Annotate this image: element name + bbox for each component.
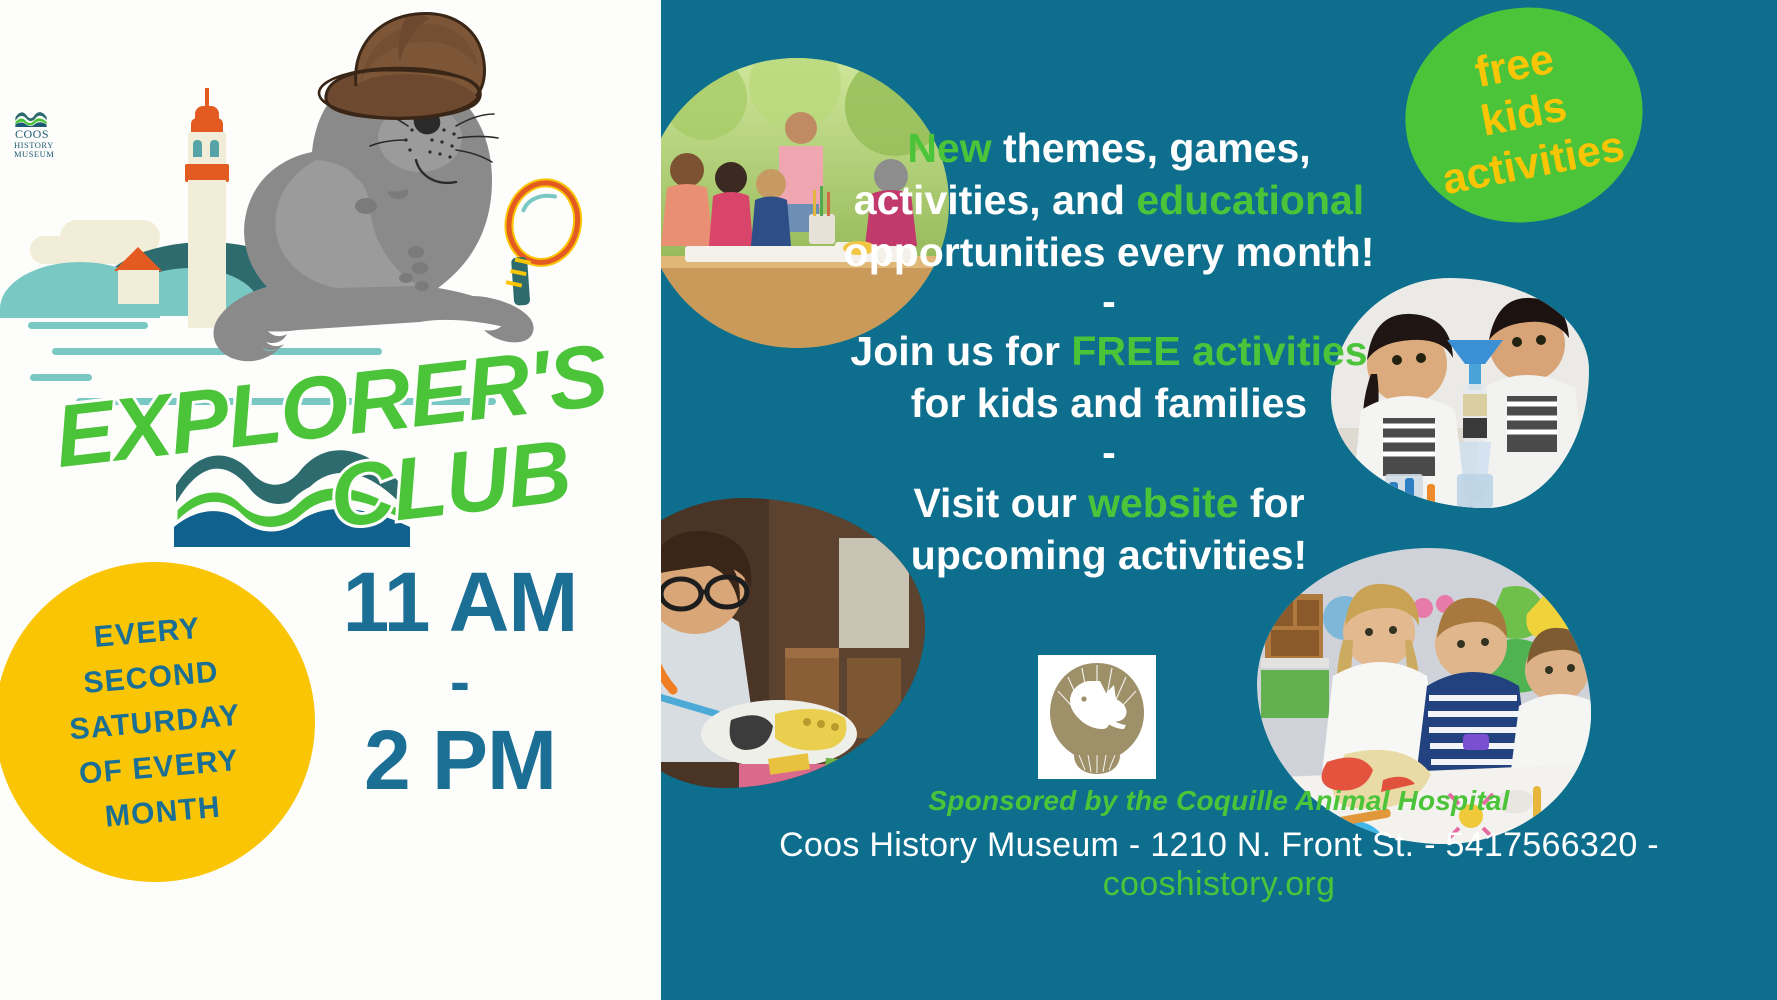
copy-paragraph-2: Join us for FREE activities for kids and… [829, 325, 1389, 429]
coos-history-museum-logo: COOS HISTORY MUSEUM [14, 110, 50, 159]
copy-separator-1: - [829, 278, 1389, 325]
magnifying-glass-icon [492, 176, 585, 315]
copy-highlight-free-activities: FREE activities [1071, 328, 1367, 374]
sponsor-text: Sponsored by the Coquille Animal Hospita… [661, 785, 1777, 817]
badge-line-5: MONTH [103, 784, 222, 839]
right-panel: free kids activities New themes, games, … [661, 0, 1777, 1000]
time-end: 2 PM [320, 718, 600, 804]
copy-paragraph-1: New themes, games, activities, and educa… [829, 122, 1389, 278]
museum-logo-line1: COOS [14, 128, 50, 141]
copy-text-1d: opportunities every month! [844, 229, 1375, 275]
free-kids-activities-badge: free kids activities [1387, 0, 1661, 243]
main-copy-block: New themes, games, activities, and educa… [829, 122, 1389, 581]
contact-text: Coos History Museum - 1210 N. Front St. … [661, 826, 1777, 904]
contact-sep-1: - [1119, 826, 1150, 864]
contact-museum-name: Coos History Museum [779, 826, 1119, 864]
event-time: 11 AM - 2 PM [320, 560, 600, 803]
contact-sep-2: - [1414, 826, 1445, 864]
copy-text-2c: for kids and families [911, 380, 1307, 426]
copy-paragraph-3: Visit our website for upcoming activitie… [829, 477, 1389, 581]
contact-sep-3: - [1638, 826, 1659, 864]
time-dash: - [320, 646, 600, 718]
copy-separator-2: - [829, 429, 1389, 476]
time-start: 11 AM [320, 560, 600, 646]
copy-highlight-website[interactable]: website [1088, 480, 1238, 526]
copy-text-2a: Join us for [850, 328, 1071, 374]
schedule-badge: EVERY SECOND SATURDAY OF EVERY MONTH [0, 549, 328, 896]
copy-highlight-educational: educational [1136, 177, 1364, 223]
copy-highlight-new: New [907, 125, 991, 171]
explorers-club-flyer: COOS HISTORY MUSEUM [0, 0, 1777, 1000]
contact-address: 1210 N. Front St. [1150, 826, 1414, 864]
contact-website[interactable]: cooshistory.org [1103, 865, 1336, 903]
contact-phone[interactable]: 5417566320 [1445, 826, 1637, 864]
copy-text-3a: Visit our [913, 480, 1088, 526]
shell-dog-icon [1038, 655, 1156, 779]
museum-logo-line3: MUSEUM [14, 150, 50, 159]
detective-hat-icon [319, 13, 485, 118]
explorers-club-title: EXPLORER'S CLUB [48, 355, 608, 570]
coquille-animal-hospital-logo [1038, 655, 1156, 779]
wave-logo-icon [14, 110, 48, 128]
left-panel: COOS HISTORY MUSEUM [0, 0, 661, 1000]
